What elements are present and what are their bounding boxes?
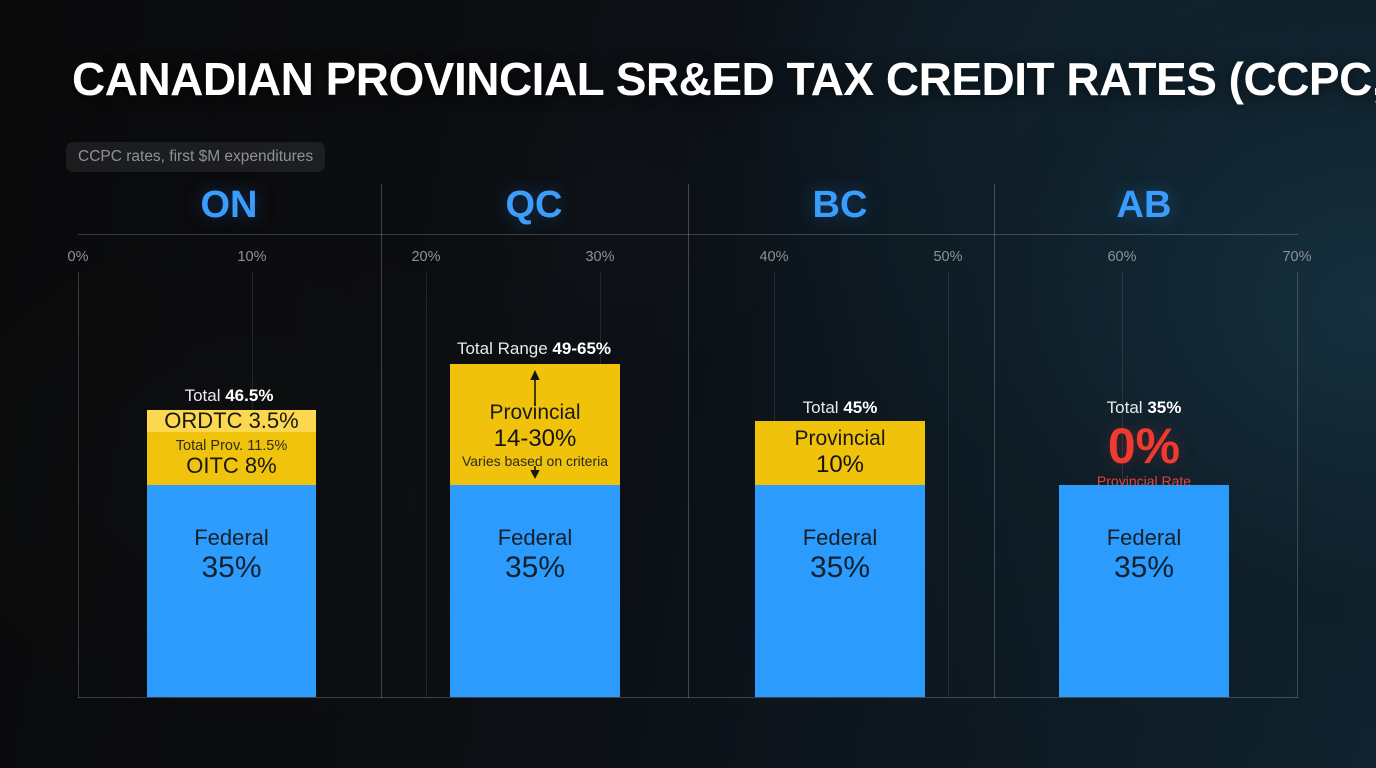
bar-label-bc-federal-name: Federal [803, 526, 878, 550]
gridline-50 [948, 272, 949, 697]
caption-text: CCPC rates, first $M expenditures [78, 148, 313, 166]
total-prefix-bc: Total [803, 398, 839, 417]
column-divider-1 [381, 184, 382, 698]
bar-label-ab-federal-name: Federal [1107, 526, 1182, 550]
tick-label-1: 10% [237, 249, 266, 265]
arrow-down-icon [530, 466, 541, 480]
bar-label-qc-federal-name: Federal [498, 526, 573, 550]
bar-label-ab-federal-value: 35% [1114, 552, 1174, 584]
gridline-20 [426, 272, 427, 697]
province-label-bc: BC [813, 184, 868, 227]
bar-label-bc-prov-name: Provincial [794, 428, 885, 451]
ab-zero-value: 0% [1097, 422, 1191, 470]
tick-label-6: 60% [1107, 249, 1136, 265]
total-prefix-qc: Total Range [457, 339, 548, 358]
total-value-on: 46.5% [225, 386, 273, 405]
bar-segment-qc-federal[interactable]: Federal 35% [450, 485, 620, 697]
tick-label-4: 40% [759, 249, 788, 265]
bar-label-on-federal-name: Federal [194, 526, 269, 550]
tick-label-5: 50% [933, 249, 962, 265]
total-label-bc: Total 45% [803, 398, 878, 418]
tick-label-2: 20% [411, 249, 440, 265]
total-prefix-ab: Total [1107, 398, 1143, 417]
total-label-on: Total 46.5% [185, 386, 274, 406]
bar-segment-bc-federal[interactable]: Federal 35% [755, 485, 925, 697]
total-label-qc: Total Range 49-65% [457, 339, 611, 359]
bar-label-qc-prov-value: 14-30% [494, 426, 577, 452]
bar-label-bc-federal-value: 35% [810, 552, 870, 584]
bar-label-bc-prov-value: 10% [816, 452, 864, 478]
bar-label-on-ordtc: ORDTC 3.5% [164, 409, 298, 433]
tick-label-3: 30% [585, 249, 614, 265]
total-value-qc: 49-65% [552, 339, 611, 358]
total-value-bc: 45% [843, 398, 877, 417]
province-label-ab: AB [1117, 184, 1172, 227]
province-label-on: ON [201, 184, 258, 227]
column-divider-2 [688, 184, 689, 698]
bar-segment-qc-provincial[interactable]: Provincial 14-30% Varies based on criter… [450, 364, 620, 485]
bar-segment-on-ordtc[interactable]: ORDTC 3.5% [147, 410, 316, 432]
total-label-ab: Total 35% [1107, 398, 1182, 418]
bar-sublabel-on-total-prov: Total Prov. 11.5% [176, 439, 288, 455]
bar-label-on-federal-value: 35% [201, 552, 261, 584]
caption-chip: CCPC rates, first $M expenditures [66, 142, 325, 172]
bar-segment-on-federal[interactable]: Federal 35% [147, 485, 316, 697]
plot-left-axis [78, 272, 79, 698]
plot-baseline [78, 697, 1298, 698]
tick-label-0: 0% [68, 249, 89, 265]
arrow-up-icon [530, 370, 541, 406]
bar-label-on-oitc: OITC 8% [186, 454, 276, 478]
plot-right-axis [1297, 272, 1298, 698]
bar-chart: 0% 10% 20% 30% 40% 50% 60% 70% ON QC BC … [0, 0, 1376, 768]
page-title: CANADIAN PROVINCIAL SR&ED TAX CREDIT RAT… [72, 52, 1376, 106]
bar-segment-ab-federal[interactable]: Federal 35% [1059, 485, 1229, 697]
bar-segment-on-oitc[interactable]: Total Prov. 11.5% OITC 8% [147, 432, 316, 485]
province-label-qc: QC [506, 184, 563, 227]
total-prefix-on: Total [185, 386, 221, 405]
total-value-ab: 35% [1147, 398, 1181, 417]
ab-zero-callout: 0% Provincial Rate [1097, 422, 1191, 489]
bar-segment-bc-provincial[interactable]: Provincial 10% [755, 421, 925, 485]
column-divider-3 [994, 184, 995, 698]
tick-label-7: 70% [1282, 249, 1311, 265]
slide-canvas: CANADIAN PROVINCIAL SR&ED TAX CREDIT RAT… [0, 0, 1376, 768]
bar-label-qc-federal-value: 35% [505, 552, 565, 584]
